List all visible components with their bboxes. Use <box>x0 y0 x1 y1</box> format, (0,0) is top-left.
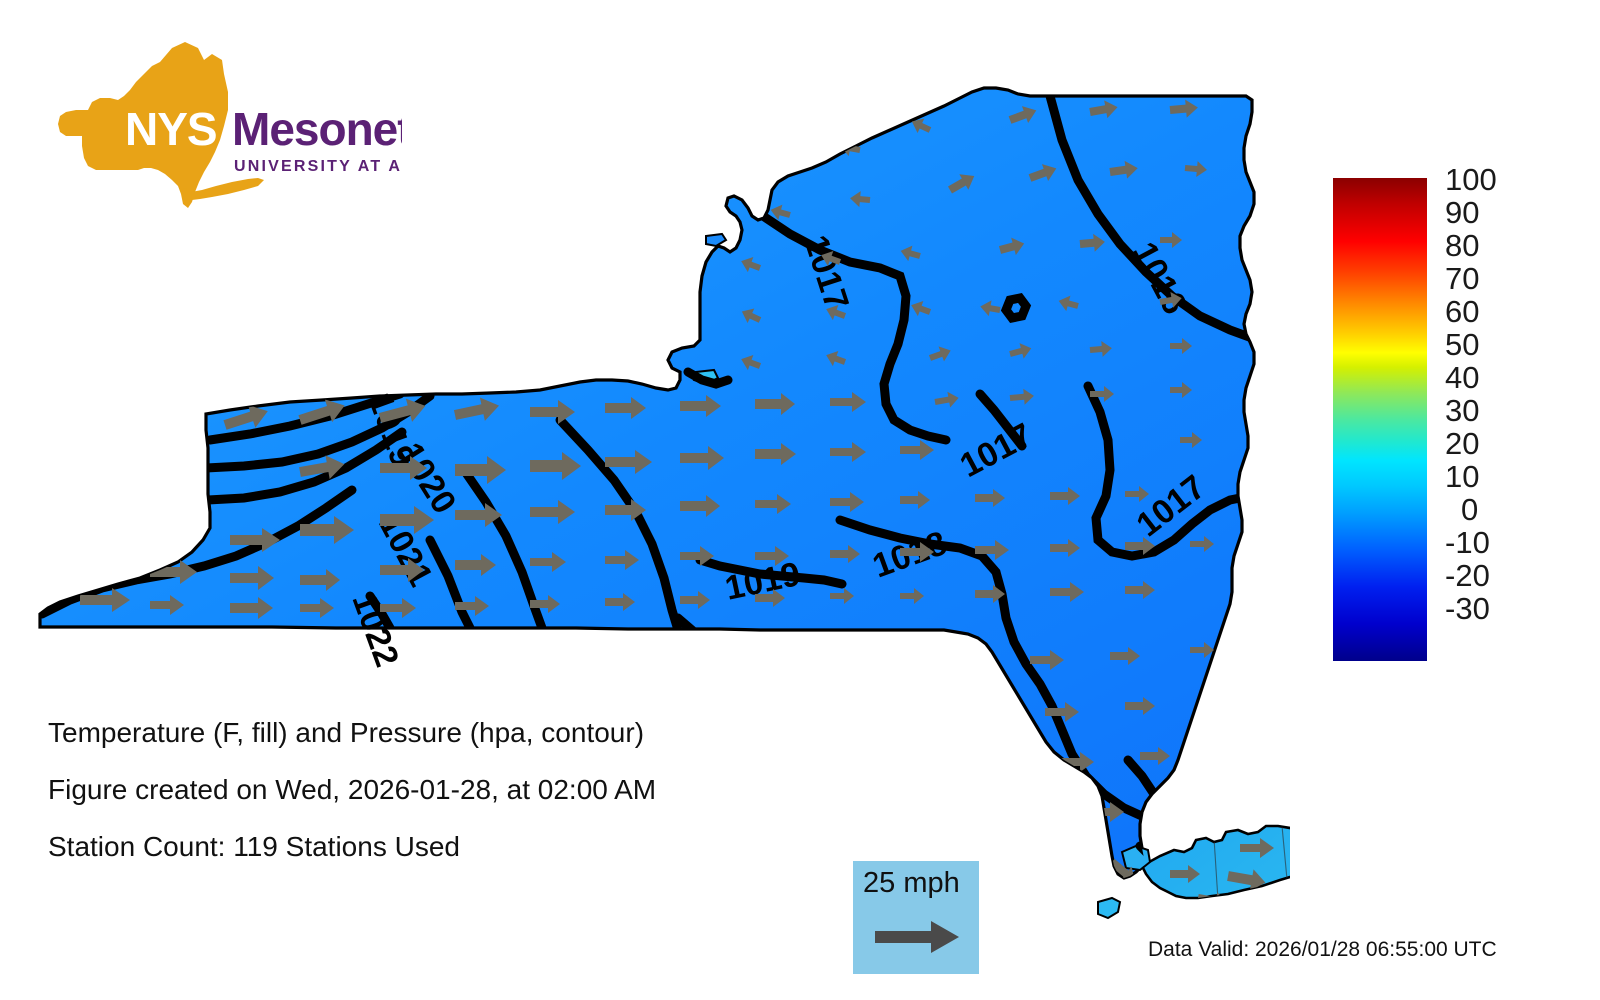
colorbar-tick: 90 <box>1445 197 1479 228</box>
colorbar-tick: 80 <box>1445 230 1479 261</box>
colorbar-tick: -10 <box>1445 527 1490 558</box>
colorbar-tick: 70 <box>1445 263 1479 294</box>
data-valid-timestamp: Data Valid: 2026/01/28 06:55:00 UTC <box>1148 938 1497 962</box>
wind-speed-legend: 25 mph <box>853 861 979 974</box>
colorbar-tick: 40 <box>1445 362 1479 393</box>
colorbar-tick: 60 <box>1445 296 1479 327</box>
colorbar-tick: 20 <box>1445 428 1479 459</box>
colorbar-tick: 30 <box>1445 395 1479 426</box>
colorbar-tick: -30 <box>1445 593 1490 624</box>
caption-created-line: Figure created on Wed, 2026-01-28, at 02… <box>48 775 808 806</box>
wind-legend-label: 25 mph <box>863 867 960 900</box>
colorbar-tick: -20 <box>1445 560 1490 591</box>
temperature-colorbar: 100 90 80 70 60 50 40 30 20 10 0 -10 -20… <box>1333 178 1583 668</box>
colorbar-tick: 10 <box>1445 461 1479 492</box>
colorbar-tick: 100 <box>1445 164 1497 195</box>
weather-map-figure: NYS Mesonet UNIVERSITY AT ALBANY <box>0 0 1600 1000</box>
wind-arrow-icon <box>875 919 959 955</box>
caption-title-line: Temperature (F, fill) and Pressure (hpa,… <box>48 718 808 749</box>
figure-caption: Temperature (F, fill) and Pressure (hpa,… <box>48 718 808 888</box>
colorbar-gradient <box>1333 178 1427 661</box>
caption-station-line: Station Count: 119 Stations Used <box>48 832 808 863</box>
colorbar-tick: 50 <box>1445 329 1479 360</box>
colorbar-tick: 0 <box>1461 494 1478 525</box>
nyc-lower-hudson-detail <box>1122 846 1150 870</box>
